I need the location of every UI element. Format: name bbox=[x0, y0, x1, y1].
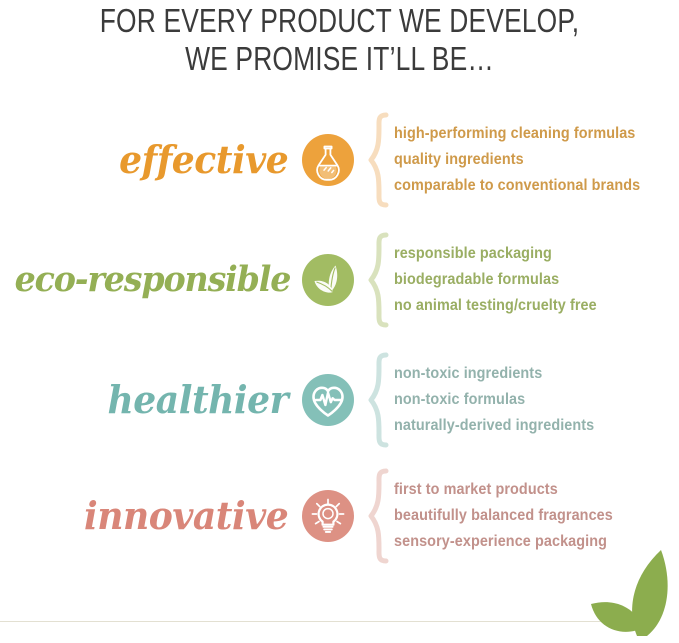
list-item: high-performing cleaning formulas bbox=[394, 121, 651, 147]
list-item: naturally-derived ingredients bbox=[394, 413, 651, 439]
list-item: responsible packaging bbox=[394, 241, 651, 267]
heartbeat-icon bbox=[302, 374, 354, 426]
promise-items-healthier: non-toxic ingredients non-toxic formulas… bbox=[390, 361, 679, 439]
flask-icon bbox=[302, 134, 354, 186]
list-item: quality ingredients bbox=[394, 147, 651, 173]
promise-word-innovative: innovative bbox=[15, 495, 292, 537]
brace-innovative bbox=[362, 468, 390, 564]
brace-eco-responsible bbox=[362, 232, 390, 328]
list-item: non-toxic ingredients bbox=[394, 361, 651, 387]
list-item: biodegradable formulas bbox=[394, 267, 651, 293]
list-item: non-toxic formulas bbox=[394, 387, 651, 413]
list-item: beautifully balanced fragrances bbox=[394, 503, 651, 529]
page-title-line-2: WE PROMISE IT’LL BE… bbox=[68, 40, 611, 78]
list-item: comparable to conventional brands bbox=[394, 173, 651, 199]
footer-divider bbox=[0, 621, 614, 622]
brace-healthier bbox=[362, 352, 390, 448]
promise-items-eco-responsible: responsible packaging biodegradable form… bbox=[390, 241, 679, 319]
promise-word-effective: effective bbox=[15, 139, 292, 181]
list-item: no animal testing/cruelty free bbox=[394, 293, 651, 319]
promise-word-healthier: healthier bbox=[15, 379, 292, 421]
list-item: first to market products bbox=[394, 477, 651, 503]
page-title-line-1: FOR EVERY PRODUCT WE DEVELOP, bbox=[68, 0, 611, 40]
brace-effective bbox=[362, 112, 390, 208]
leaf-icon bbox=[302, 254, 354, 306]
page-title: FOR EVERY PRODUCT WE DEVELOP, WE PROMISE… bbox=[0, 0, 679, 78]
promise-row-effective: effective high-performing cleaning formu… bbox=[0, 106, 679, 214]
leaves-decoration bbox=[569, 548, 679, 638]
promise-row-eco-responsible: eco-responsible responsible packaging bi… bbox=[0, 226, 679, 334]
promise-row-healthier: healthier non-toxic ingredients non-toxi… bbox=[0, 346, 679, 454]
promise-items-effective: high-performing cleaning formulas qualit… bbox=[390, 121, 679, 199]
lightbulb-icon bbox=[302, 490, 354, 542]
promise-items-innovative: first to market products beautifully bal… bbox=[390, 477, 679, 555]
promise-word-eco-responsible: eco-responsible bbox=[15, 259, 292, 301]
